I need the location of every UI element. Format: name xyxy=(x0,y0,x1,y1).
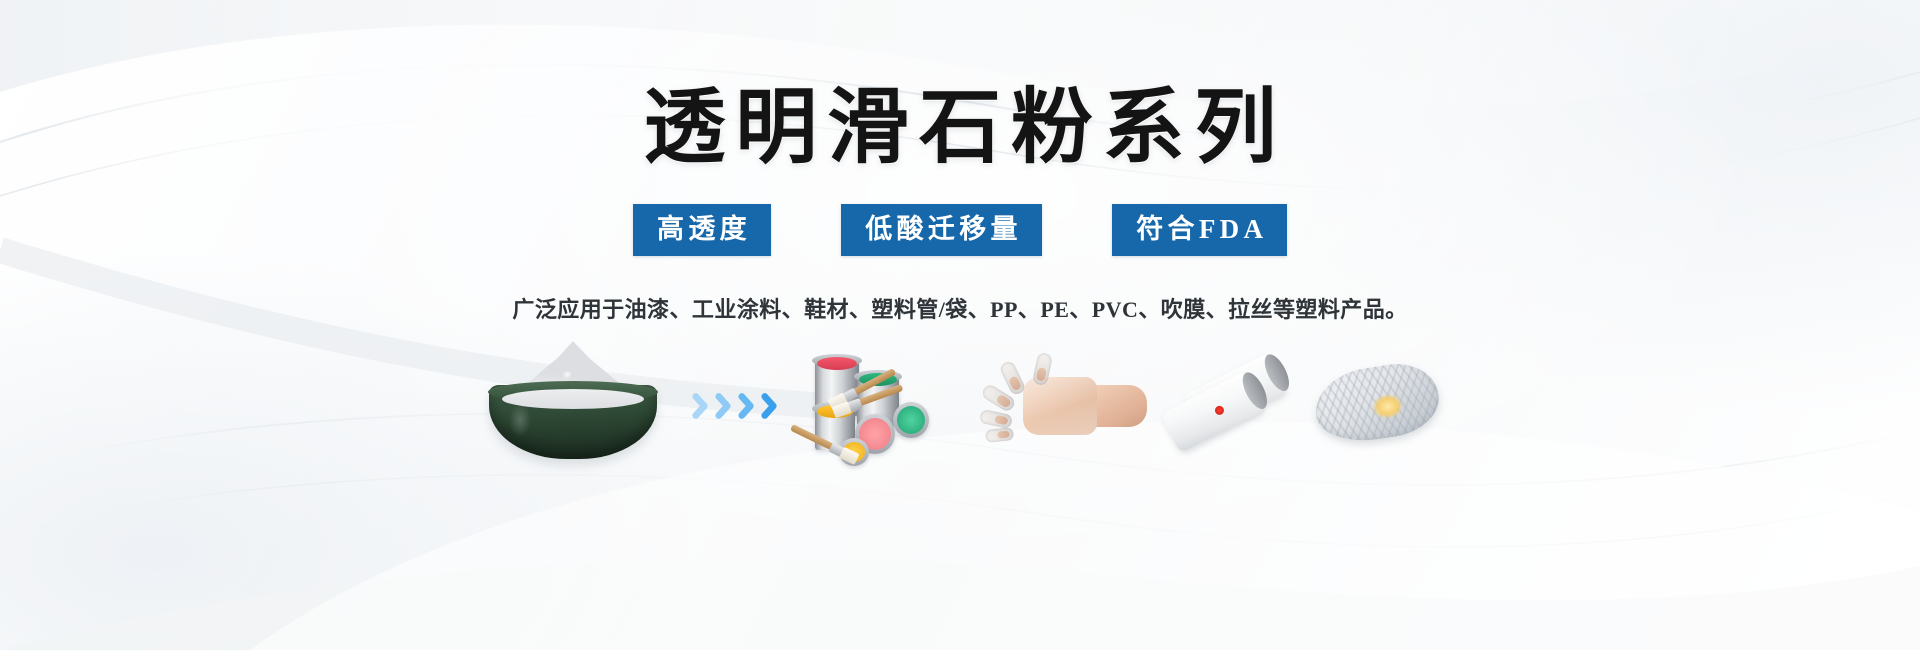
film-rolls-image xyxy=(1157,354,1307,459)
bowl-powder-surface xyxy=(502,389,644,409)
process-arrows xyxy=(673,391,797,421)
palm xyxy=(1023,377,1097,435)
badge-high-transparency[interactable]: 高透度 xyxy=(633,204,771,257)
talc-powder-bowl-image xyxy=(473,347,673,465)
finger-little xyxy=(985,427,1014,443)
paint-cans-image xyxy=(797,346,987,466)
badge-fda-compliant[interactable]: 符合FDA xyxy=(1112,204,1287,257)
shoe-sole xyxy=(1310,358,1444,449)
chevron-right-icon-1 xyxy=(691,391,710,421)
sole-highlight xyxy=(1371,392,1404,420)
badge-low-acid-migration[interactable]: 低酸迁移量 xyxy=(841,204,1042,257)
application-description: 广泛应用于油漆、工业涂料、鞋材、塑料管/袋、PP、PE、PVC、吹膜、拉丝等塑料… xyxy=(512,292,1407,324)
shoe-sole-image xyxy=(1307,351,1447,461)
product-banner: 透明滑石粉系列 高透度 低酸迁移量 符合FDA 广泛应用于油漆、工业涂料、鞋材、… xyxy=(0,0,1920,650)
banner-content: 透明滑石粉系列 高透度 低酸迁移量 符合FDA 广泛应用于油漆、工业涂料、鞋材、… xyxy=(0,0,1920,650)
chevron-right-icon-4 xyxy=(760,391,779,421)
chevron-right-icon-2 xyxy=(714,391,733,421)
product-showcase-strip xyxy=(0,346,1920,466)
plastic-glove-image xyxy=(987,351,1157,461)
feature-badge-list: 高透度 低酸迁移量 符合FDA xyxy=(633,204,1288,257)
chevron-right-icon-3 xyxy=(737,391,756,421)
page-title: 透明滑石粉系列 xyxy=(634,86,1287,170)
paint-disc-green xyxy=(893,402,929,438)
